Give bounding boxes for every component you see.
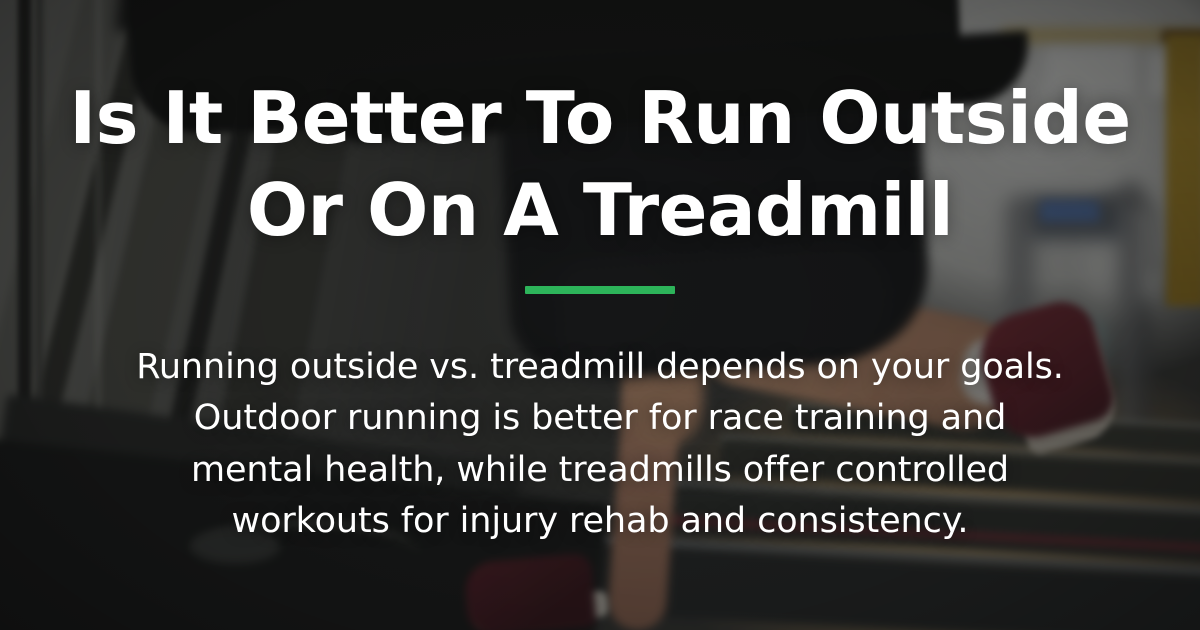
page-title: Is It Better To Run Outside Or On A Trea… — [45, 72, 1155, 256]
page-subtitle-line-2: Outdoor running is better for race train… — [105, 393, 1095, 444]
page-title-line-2: Or On A Treadmill — [45, 164, 1155, 256]
card-content: Is It Better To Run Outside Or On A Trea… — [0, 0, 1200, 630]
hero-card: Is It Better To Run Outside Or On A Trea… — [0, 0, 1200, 630]
page-subtitle-line-4: workouts for injury rehab and consistenc… — [105, 496, 1095, 547]
page-title-line-1: Is It Better To Run Outside — [45, 72, 1155, 164]
page-subtitle-line-1: Running outside vs. treadmill depends on… — [105, 342, 1095, 393]
page-subtitle-line-3: mental health, while treadmills offer co… — [105, 445, 1095, 496]
page-subtitle: Running outside vs. treadmill depends on… — [105, 342, 1095, 546]
green-accent-bar — [525, 286, 675, 294]
